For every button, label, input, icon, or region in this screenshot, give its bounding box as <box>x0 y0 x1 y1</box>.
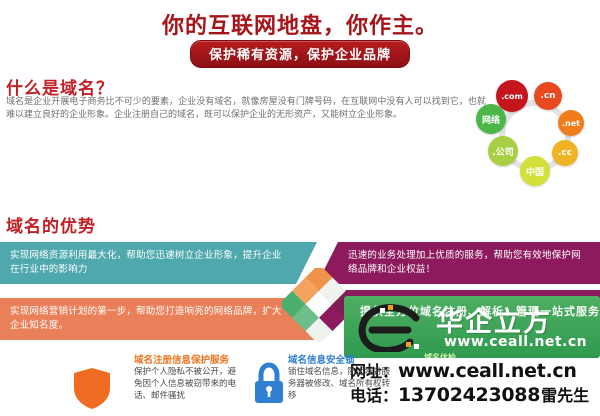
page-title: 你的互联网地盘，你作主。 <box>0 8 600 40</box>
contact-phone-value: 13702423088 <box>398 384 540 406</box>
tld-circle-cluster: .com .cn .net .cc 中国 .公司 网络 <box>476 80 594 195</box>
feature-lock-body: 锁住域名信息，防止域名服务器被修改、域名所有权转移 <box>288 366 392 402</box>
advantages-heading: 域名的优势 <box>6 212 96 237</box>
e-swirl-logo-icon <box>358 304 428 352</box>
advantage-banner-3: 迅速的业务处理加上优质的服务，帮助您有效地保护网络品牌和企业权益！ <box>338 242 600 284</box>
feature-security-lock: 域名信息安全锁 锁住域名信息，防止域名服务器被修改、域名所有权转移 <box>288 352 392 402</box>
tld-badge-cc: .cc <box>552 140 578 166</box>
hero-banner: 你的互联网地盘，你作主。 保护稀有资源，保护企业品牌 <box>0 0 600 70</box>
e-swirl-svg <box>358 304 428 352</box>
brand-logo-panel: 提供全方位域名注册、解析、管理一站式服务 华企立方 www.ceall.net.… <box>344 296 600 358</box>
tld-badge-cn: .cn <box>534 82 562 110</box>
tld-badge-zhongguo: 中国 <box>520 156 550 186</box>
feature-privacy-protection: 域名注册信息保护服务 保护个人隐私不被公开，避免因个人信息被窃带来的电话、邮件骚… <box>134 352 244 402</box>
feature-privacy-body: 保护个人隐私不被公开，避免因个人信息被窃带来的电话、邮件骚扰 <box>134 366 244 402</box>
lock-svg <box>252 362 286 406</box>
shield-svg <box>72 366 112 410</box>
lock-icon <box>252 362 286 406</box>
tld-badge-net: .net <box>558 110 584 136</box>
shield-icon <box>72 366 112 410</box>
brand-url: www.ceall.net.cn <box>444 334 587 350</box>
tld-badge-gongsi: .公司 <box>488 136 518 166</box>
feature-privacy-title: 域名注册信息保护服务 <box>134 352 244 366</box>
advantage-banner-2: 实现网络营销计划的第一步，帮助您打造响亮的网络品牌，扩大企业知名度。 <box>0 298 296 340</box>
what-is-domain-paragraph: 域名是企业开展电子商务比不可少的要素，企业没有域名，就像房屋没有门牌号码，在互联… <box>6 96 486 122</box>
advantage-banner-1: 实现网络资源利用最大化，帮助您迅速树立企业形象，提升企业在行业中的影响力 <box>0 242 296 284</box>
contact-url-value[interactable]: www.ceall.net.cn <box>398 360 577 382</box>
tld-badge-wangluo: 网络 <box>476 104 506 134</box>
hero-ribbon-badge: 保护稀有资源，保护企业品牌 <box>190 40 410 68</box>
contact-person-name: 雷先生 <box>541 382 589 406</box>
promo-page: 你的互联网地盘，你作主。 保护稀有资源，保护企业品牌 什么是域名？ 域名是企业开… <box>0 0 600 416</box>
feature-lock-title: 域名信息安全锁 <box>288 352 392 366</box>
